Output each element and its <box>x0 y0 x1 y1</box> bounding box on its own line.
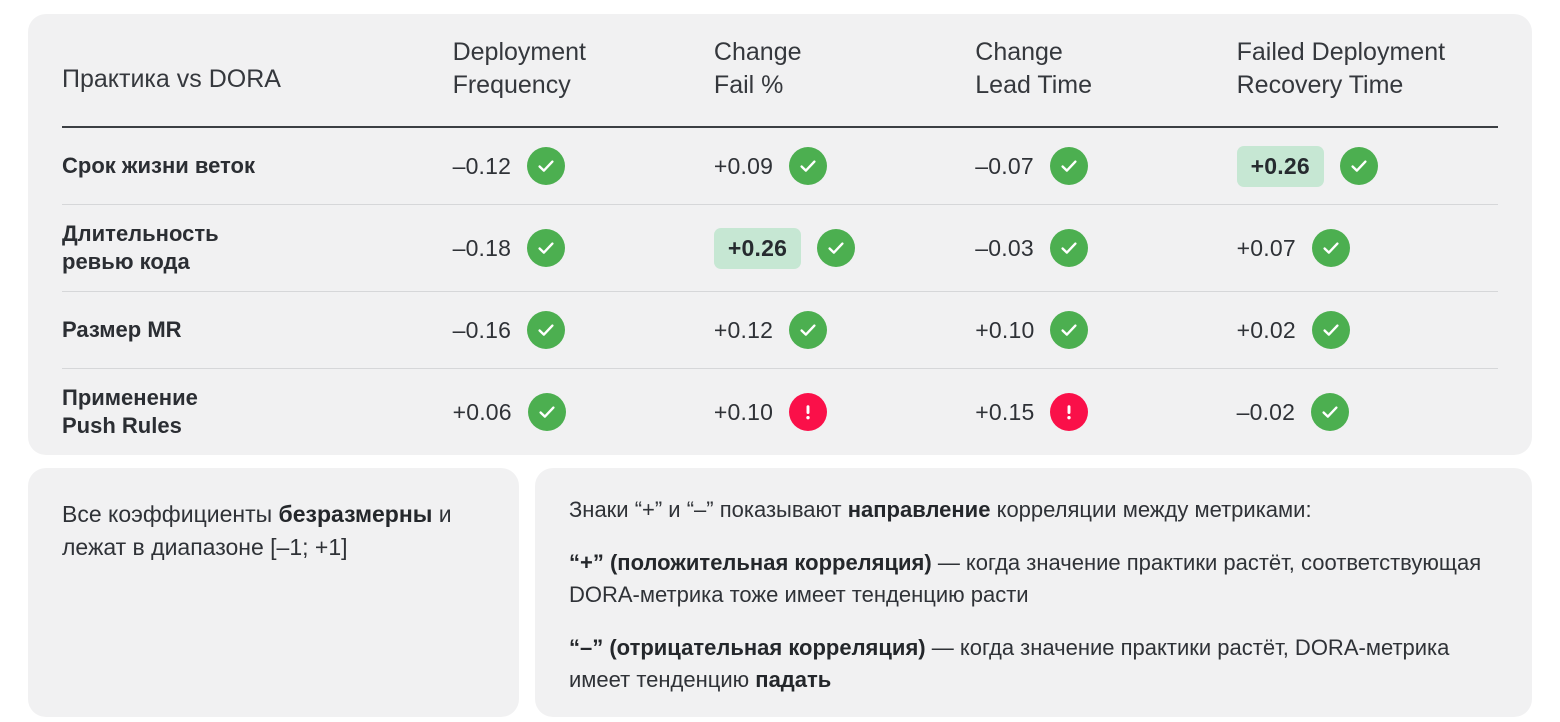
correlation-table-card: Практика vs DORA Deployment Frequency Ch… <box>28 14 1532 455</box>
check-circle-icon <box>1050 229 1088 267</box>
practice-cell: Применение Push Rules <box>62 369 453 456</box>
correlation-value: +0.02 <box>1237 317 1296 344</box>
emphasis-text: “+” (положительная корреляция) <box>569 550 932 575</box>
metric-cell-content: +0.26 <box>1237 147 1498 185</box>
correlation-value: –0.03 <box>975 235 1034 262</box>
correlation-table: Практика vs DORA Deployment Frequency Ch… <box>62 36 1498 455</box>
metric-cell: +0.26 <box>1237 127 1498 205</box>
metric-cell-content: +0.10 <box>714 393 975 431</box>
notes-row: Все коэффициенты безразмерны и лежат в д… <box>28 468 1532 717</box>
metric-cell: +0.26 <box>714 205 975 292</box>
note-sign-legend: Знаки “+” и “–” показывают направление к… <box>535 468 1532 717</box>
column-header-failed-deployment-recovery: Failed Deployment Recovery Time <box>1237 36 1498 127</box>
table-body: Срок жизни веток–0.12+0.09–0.07+0.26Длит… <box>62 127 1498 455</box>
metric-cell-content: +0.09 <box>714 147 975 185</box>
check-circle-icon <box>1311 393 1349 431</box>
metric-cell-content: +0.06 <box>453 393 714 431</box>
metric-cell: +0.07 <box>1237 205 1498 292</box>
practice-label: Применение Push Rules <box>62 384 453 439</box>
check-circle-icon <box>1340 147 1378 185</box>
correlation-value: +0.06 <box>453 399 512 426</box>
table-header: Практика vs DORA Deployment Frequency Ch… <box>62 36 1498 127</box>
table-row: Применение Push Rules+0.06+0.10+0.15–0.0… <box>62 369 1498 456</box>
practice-label: Срок жизни веток <box>62 152 453 180</box>
note-dimensionless-text: Все коэффициенты безразмерны и лежат в д… <box>62 498 485 563</box>
metric-cell: –0.16 <box>453 292 714 369</box>
metric-cell: +0.10 <box>714 369 975 456</box>
check-circle-icon <box>527 229 565 267</box>
table-row: Длительность ревью кода–0.18+0.26–0.03+0… <box>62 205 1498 292</box>
metric-cell: –0.03 <box>975 205 1236 292</box>
correlation-value: –0.16 <box>453 317 512 344</box>
note-sign-legend-text: Знаки “+” и “–” показывают направление к… <box>569 494 1498 695</box>
table-header-row: Практика vs DORA Deployment Frequency Ch… <box>62 36 1498 127</box>
practice-label: Размер MR <box>62 316 453 344</box>
check-circle-icon <box>527 311 565 349</box>
alert-circle-icon <box>1050 393 1088 431</box>
metric-cell-content: +0.07 <box>1237 229 1498 267</box>
metric-cell: +0.10 <box>975 292 1236 369</box>
practice-cell: Длительность ревью кода <box>62 205 453 292</box>
correlation-value: –0.07 <box>975 153 1034 180</box>
metric-cell-content: +0.10 <box>975 311 1236 349</box>
plain-text: корреляции между метриками: <box>990 497 1311 522</box>
emphasis-text: падать <box>755 667 831 692</box>
practice-label: Длительность ревью кода <box>62 220 453 275</box>
check-circle-icon <box>1312 311 1350 349</box>
plain-text: Знаки “+” и “–” показывают <box>569 497 848 522</box>
infographic-page: Практика vs DORA Deployment Frequency Ch… <box>0 0 1560 722</box>
correlation-value: +0.12 <box>714 317 773 344</box>
metric-cell-content: –0.16 <box>453 311 714 349</box>
metric-cell-content: –0.07 <box>975 147 1236 185</box>
plain-text: Все коэффициенты <box>62 501 279 527</box>
metric-cell: +0.15 <box>975 369 1236 456</box>
metric-cell-content: –0.18 <box>453 229 714 267</box>
check-circle-icon <box>1050 311 1088 349</box>
metric-cell-content: +0.02 <box>1237 311 1498 349</box>
table-row: Срок жизни веток–0.12+0.09–0.07+0.26 <box>62 127 1498 205</box>
correlation-value: –0.12 <box>453 153 512 180</box>
correlation-value: +0.15 <box>975 399 1034 426</box>
metric-cell: +0.12 <box>714 292 975 369</box>
emphasis-text: “–” (отрицательная корреляция) <box>569 635 926 660</box>
alert-circle-icon <box>789 393 827 431</box>
practice-cell: Размер MR <box>62 292 453 369</box>
column-header-deployment-frequency: Deployment Frequency <box>453 36 714 127</box>
column-header-change-lead-time: Change Lead Time <box>975 36 1236 127</box>
metric-cell-content: +0.26 <box>714 229 975 267</box>
check-circle-icon <box>527 147 565 185</box>
correlation-value: +0.26 <box>1237 146 1324 187</box>
metric-cell: +0.06 <box>453 369 714 456</box>
column-header-practice: Практика vs DORA <box>62 36 453 127</box>
check-circle-icon <box>1050 147 1088 185</box>
note-dimensionless: Все коэффициенты безразмерны и лежат в д… <box>28 468 519 717</box>
note-paragraph: “–” (отрицательная корреляция) — когда з… <box>569 632 1498 696</box>
correlation-value: +0.26 <box>714 228 801 269</box>
metric-cell: +0.09 <box>714 127 975 205</box>
correlation-value: +0.10 <box>714 399 773 426</box>
emphasis-text: безразмерны <box>279 501 433 527</box>
table-row: Размер MR–0.16+0.12+0.10+0.02 <box>62 292 1498 369</box>
metric-cell-content: –0.12 <box>453 147 714 185</box>
metric-cell: –0.02 <box>1237 369 1498 456</box>
correlation-value: –0.18 <box>453 235 512 262</box>
metric-cell: –0.07 <box>975 127 1236 205</box>
metric-cell-content: –0.02 <box>1237 393 1498 431</box>
check-circle-icon <box>789 311 827 349</box>
correlation-value: –0.02 <box>1237 399 1296 426</box>
correlation-value: +0.09 <box>714 153 773 180</box>
note-paragraph: “+” (положительная корреляция) — когда з… <box>569 547 1498 611</box>
practice-cell: Срок жизни веток <box>62 127 453 205</box>
metric-cell: +0.02 <box>1237 292 1498 369</box>
metric-cell: –0.12 <box>453 127 714 205</box>
note-paragraph: Знаки “+” и “–” показывают направление к… <box>569 494 1498 526</box>
check-circle-icon <box>1312 229 1350 267</box>
metric-cell-content: –0.03 <box>975 229 1236 267</box>
correlation-value: +0.07 <box>1237 235 1296 262</box>
metric-cell: –0.18 <box>453 205 714 292</box>
metric-cell-content: +0.12 <box>714 311 975 349</box>
check-circle-icon <box>528 393 566 431</box>
check-circle-icon <box>789 147 827 185</box>
check-circle-icon <box>817 229 855 267</box>
correlation-value: +0.10 <box>975 317 1034 344</box>
column-header-change-fail: Change Fail % <box>714 36 975 127</box>
metric-cell-content: +0.15 <box>975 393 1236 431</box>
emphasis-text: направление <box>848 497 991 522</box>
